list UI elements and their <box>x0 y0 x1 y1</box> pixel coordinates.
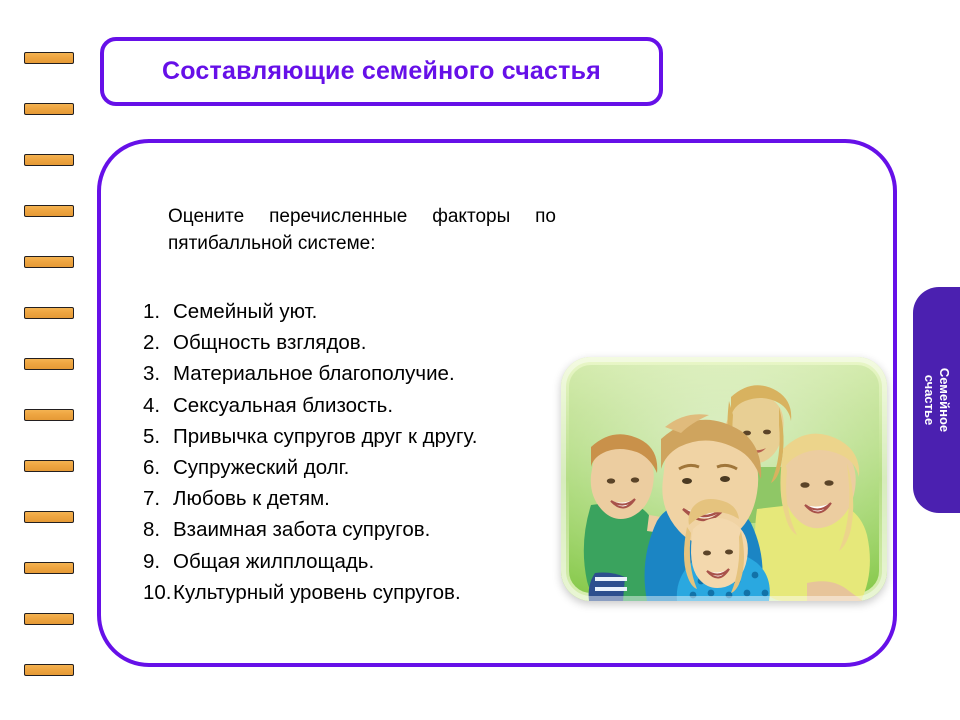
binder-ring <box>24 52 74 64</box>
factor-label: Сексуальная близость. <box>173 390 393 421</box>
title-plate: Составляющие семейного счастья <box>100 37 663 106</box>
factor-number: 7. <box>143 483 173 514</box>
factor-number: 2. <box>143 327 173 358</box>
intro-line-2: пятибалльной системе: <box>168 230 556 257</box>
side-tab-label: Семейное счастье <box>922 287 952 513</box>
family-photo <box>561 357 887 601</box>
factor-label: Семейный уют. <box>173 296 317 327</box>
factor-number: 8. <box>143 514 173 545</box>
factor-label: Привычка супругов друг к другу. <box>173 421 477 452</box>
factor-list-item: 7.Любовь к детям. <box>143 483 583 514</box>
intro-paragraph: Оцените перечисленные факторы по пятибал… <box>168 203 556 257</box>
factor-list-item: 2.Общность взглядов. <box>143 327 583 358</box>
factor-label: Материальное благополучие. <box>173 358 455 389</box>
factor-list-item: 1.Семейный уют. <box>143 296 583 327</box>
binder-ring <box>24 307 74 319</box>
factor-label: Общность взглядов. <box>173 327 366 358</box>
factor-label: Культурный уровень супругов. <box>173 577 461 608</box>
factor-list-item: 4.Сексуальная близость. <box>143 390 583 421</box>
factor-label: Общая жилплощадь. <box>173 546 374 577</box>
factor-number: 4. <box>143 390 173 421</box>
side-tab-line-1: Семейное <box>937 287 952 513</box>
factor-label: Взаимная забота супругов. <box>173 514 430 545</box>
factor-list-item: 9.Общая жилплощадь. <box>143 546 583 577</box>
binder-ring <box>24 358 74 370</box>
binder-ring <box>24 460 74 472</box>
binder-ring <box>24 409 74 421</box>
page-title: Составляющие семейного счастья <box>162 57 601 86</box>
binder-ring <box>24 613 74 625</box>
spiral-binder-rings <box>0 0 80 720</box>
side-tab-line-2: счастье <box>922 287 937 513</box>
factor-number: 5. <box>143 421 173 452</box>
factor-list-item: 6.Супружеский долг. <box>143 452 583 483</box>
factor-list-item: 10.Культурный уровень супругов. <box>143 577 583 608</box>
factor-list-item: 3.Материальное благополучие. <box>143 358 583 389</box>
slide-canvas: Составляющие семейного счастья Оцените п… <box>0 0 960 720</box>
binder-ring <box>24 256 74 268</box>
factor-list-item: 5.Привычка супругов друг к другу. <box>143 421 583 452</box>
factor-number: 1. <box>143 296 173 327</box>
binder-ring <box>24 562 74 574</box>
factor-label: Любовь к детям. <box>173 483 330 514</box>
intro-line-1: Оцените перечисленные факторы по <box>168 203 556 230</box>
side-tab: Семейное счастье <box>913 287 960 513</box>
factor-list-item: 8.Взаимная забота супругов. <box>143 514 583 545</box>
factor-number: 10. <box>143 577 173 608</box>
factor-label: Супружеский долг. <box>173 452 349 483</box>
binder-ring <box>24 154 74 166</box>
factor-list: 1.Семейный уют.2.Общность взглядов.3.Мат… <box>143 296 583 608</box>
binder-ring <box>24 205 74 217</box>
binder-ring <box>24 103 74 115</box>
binder-ring <box>24 511 74 523</box>
binder-ring <box>24 664 74 676</box>
factor-number: 6. <box>143 452 173 483</box>
factor-number: 3. <box>143 358 173 389</box>
factor-number: 9. <box>143 546 173 577</box>
